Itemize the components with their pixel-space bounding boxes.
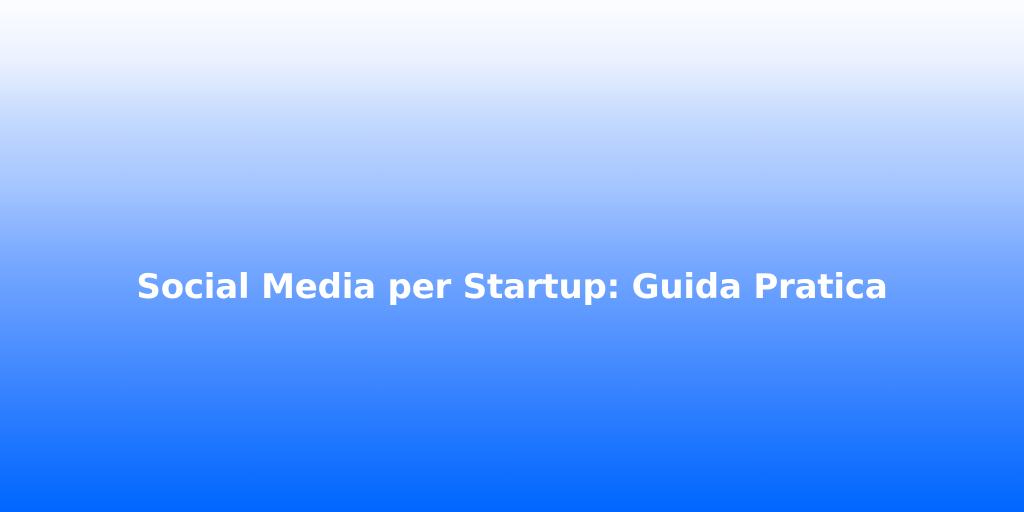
- hero-content: Social Media per Startup: Guida Pratica: [0, 265, 1024, 309]
- hero-banner: Social Media per Startup: Guida Pratica: [0, 0, 1024, 512]
- page-title: Social Media per Startup: Guida Pratica: [48, 265, 976, 309]
